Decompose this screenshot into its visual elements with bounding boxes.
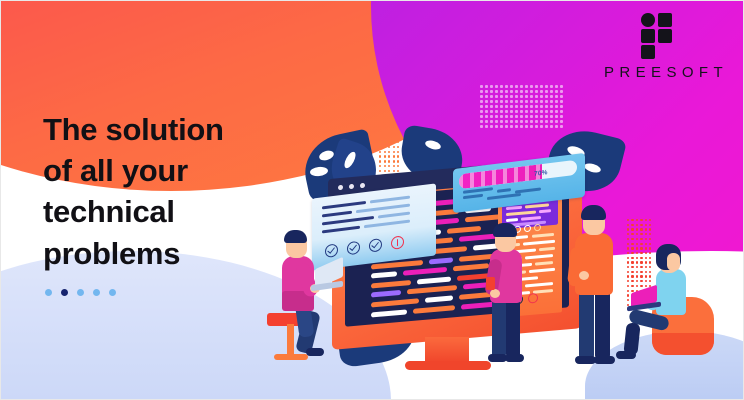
stool-base (274, 354, 308, 360)
carousel-dot-5[interactable] (109, 289, 116, 296)
side-panel-line (532, 233, 554, 238)
code-line (433, 218, 459, 225)
side-panel-line (529, 268, 555, 273)
shoe (616, 351, 636, 359)
leg-left (492, 297, 506, 359)
carousel-dot-2[interactable] (61, 289, 68, 296)
leg-right (595, 289, 610, 361)
logo-square-top-right (658, 13, 672, 27)
code-line (407, 285, 457, 294)
side-panel-line (533, 289, 553, 293)
logo-circle-block (641, 13, 655, 27)
page-title: The solution of all your technical probl… (43, 109, 224, 274)
window-dot-3-icon (360, 183, 365, 188)
side-panel-line (539, 247, 555, 251)
brand-logo[interactable]: PREESOFT (599, 13, 719, 80)
logo-square-bottom-left (641, 45, 655, 59)
hair (284, 230, 307, 243)
brand-name: PREESOFT (599, 65, 719, 80)
side-panel-head-line (506, 218, 518, 222)
carousel-dot-1[interactable] (45, 289, 52, 296)
code-line (447, 226, 481, 234)
warning-circle-icon (391, 235, 404, 250)
logo-square-mid-left (641, 29, 655, 43)
stool-post (287, 324, 294, 358)
window-dot-2-icon (349, 184, 354, 189)
code-line (371, 271, 397, 278)
code-line (429, 257, 453, 264)
code-line (371, 309, 407, 317)
side-panel-line (525, 254, 553, 259)
check-circle-icon (347, 241, 360, 256)
code-line (425, 295, 453, 302)
leg-left (579, 289, 594, 361)
hair (581, 205, 606, 220)
side-panel-head-line (521, 216, 541, 220)
card-text-line (322, 226, 360, 234)
carousel-pagination-dots[interactable] (45, 289, 116, 296)
carousel-dot-4[interactable] (93, 289, 100, 296)
shoe-left (575, 356, 596, 364)
checklist-card (312, 183, 436, 270)
leg-right (506, 297, 520, 359)
hair (493, 223, 517, 237)
side-panel-head-line (506, 210, 536, 215)
code-line (461, 301, 495, 309)
code-line (417, 276, 451, 284)
hand (490, 289, 500, 298)
monitor-base (405, 361, 491, 370)
preesoft-p-blocks-logo (639, 13, 679, 59)
headline-line-2: of all your (43, 150, 224, 191)
code-line (413, 305, 455, 314)
window-dot-1-icon (338, 185, 343, 190)
card-text-line (322, 201, 366, 209)
card-text-line (322, 211, 352, 218)
shoe-right (505, 354, 524, 362)
headline-line-3: technical (43, 191, 224, 232)
monitor-stand (425, 337, 469, 363)
logo-square-mid-right (658, 29, 672, 43)
code-line (371, 280, 411, 288)
face (667, 253, 680, 271)
shoe-right (594, 356, 615, 364)
side-panel-head-line (539, 209, 551, 213)
phone (486, 277, 495, 290)
code-line (371, 298, 419, 307)
carousel-dot-3[interactable] (77, 289, 84, 296)
side-panel-line (523, 240, 555, 245)
card-text-line (364, 220, 410, 229)
code-line (371, 290, 401, 298)
headline-line-1: The solution (43, 109, 224, 150)
hand (579, 271, 589, 280)
check-circle-icon (369, 238, 382, 253)
side-panel-line (525, 282, 553, 287)
side-panel-line (535, 261, 553, 265)
card-text-line (370, 196, 410, 204)
headline-line-4: problems (43, 233, 224, 274)
hero-banner: PREESOFT The solution of all your techni… (0, 0, 744, 400)
card-text-line (378, 212, 410, 219)
side-panel-head-line (525, 203, 549, 208)
check-circle-icon (325, 243, 338, 258)
code-line (403, 267, 447, 276)
beanbag-shade (652, 333, 714, 355)
shoe-back (306, 348, 324, 356)
code-line (453, 263, 489, 271)
